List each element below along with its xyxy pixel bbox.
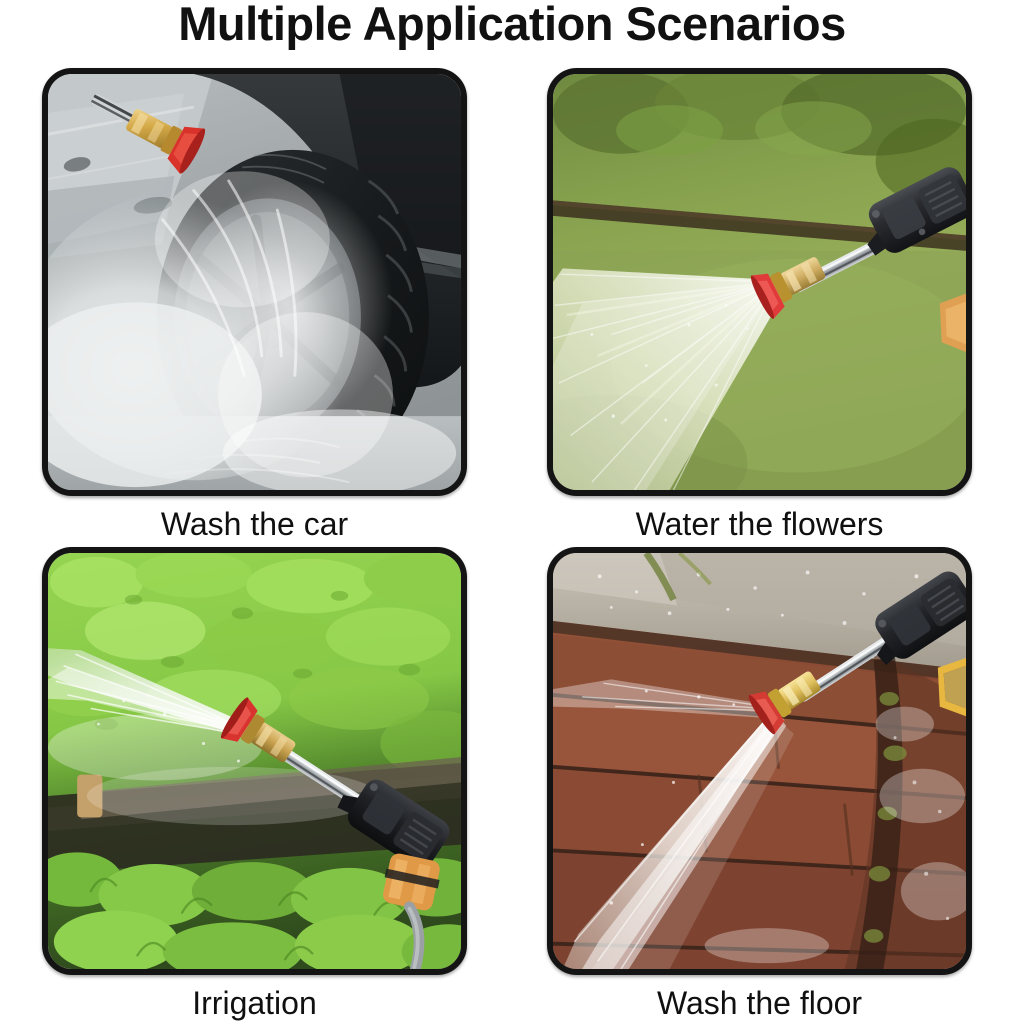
wash-the-floor-illustration xyxy=(553,553,966,969)
scenario-caption-wash-the-car: Wash the car xyxy=(42,502,467,546)
water-the-flowers-illustration xyxy=(553,74,966,490)
irrigation-illustration xyxy=(48,553,461,969)
scenario-cell-irrigation: Irrigation xyxy=(42,547,467,1025)
scenario-photo-wash-the-floor[interactable] xyxy=(547,547,972,975)
page-title: Multiple Application Scenarios xyxy=(0,0,1024,52)
scenario-cell-water-the-flowers: Water the flowers xyxy=(547,68,972,546)
scenario-caption-irrigation: Irrigation xyxy=(42,981,467,1025)
scenario-caption-wash-the-floor: Wash the floor xyxy=(547,981,972,1025)
scenario-photo-water-the-flowers[interactable] xyxy=(547,68,972,496)
scenario-photo-irrigation[interactable] xyxy=(42,547,467,975)
scenario-grid: Wash the car xyxy=(0,62,1024,1024)
scenario-cell-wash-the-car: Wash the car xyxy=(42,68,467,546)
scenario-caption-water-the-flowers: Water the flowers xyxy=(547,502,972,546)
infographic-page: Multiple Application Scenarios xyxy=(0,0,1024,1024)
scenario-photo-wash-the-car[interactable] xyxy=(42,68,467,496)
wash-the-car-illustration xyxy=(48,74,461,490)
scenario-cell-wash-the-floor: Wash the floor xyxy=(547,547,972,1025)
